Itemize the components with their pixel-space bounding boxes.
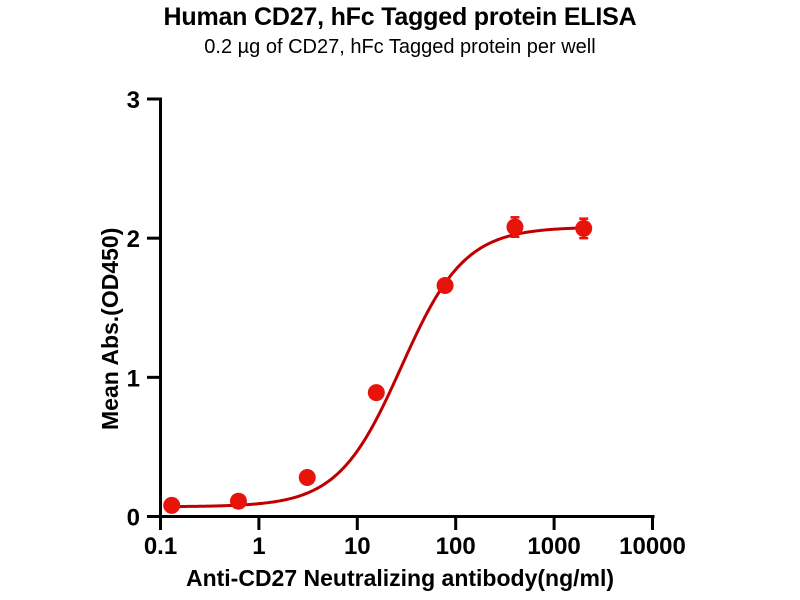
- y-tick-label-3: 3: [127, 87, 140, 114]
- data-point: [230, 493, 247, 510]
- data-point: [506, 219, 523, 236]
- x-tick-label-0.1: 0.1: [144, 533, 177, 560]
- x-tick-group: 0.1110100100010000: [144, 516, 686, 560]
- y-tick-label-0: 0: [127, 505, 140, 532]
- x-tick-label-10: 10: [344, 533, 371, 560]
- x-tick-label-100: 100: [436, 533, 476, 560]
- data-point: [437, 277, 454, 294]
- plot-area: 0123 0.1110100100010000 Mean Abs.(OD450)…: [0, 0, 800, 600]
- data-point: [368, 384, 385, 401]
- x-tick-label-1: 1: [252, 533, 265, 560]
- x-axis-title: Anti-CD27 Neutralizing antibody(ng/ml): [186, 565, 614, 591]
- fit-curve-group: [172, 228, 584, 507]
- axes-group: [159, 99, 653, 517]
- data-point: [299, 469, 316, 486]
- x-tick-label-10000: 10000: [619, 533, 686, 560]
- y-axis-title: Mean Abs.(OD450): [97, 228, 123, 430]
- elisa-figure: Human CD27, hFc Tagged protein ELISA 0.2…: [0, 0, 800, 600]
- y-tick-group: 0123: [127, 87, 160, 532]
- data-point: [163, 497, 180, 514]
- y-tick-label-2: 2: [127, 226, 140, 253]
- data-point: [575, 220, 592, 237]
- y-tick-label-1: 1: [127, 365, 140, 392]
- x-tick-label-1000: 1000: [527, 533, 580, 560]
- fit-curve: [172, 228, 584, 507]
- data-points-group: [163, 217, 592, 514]
